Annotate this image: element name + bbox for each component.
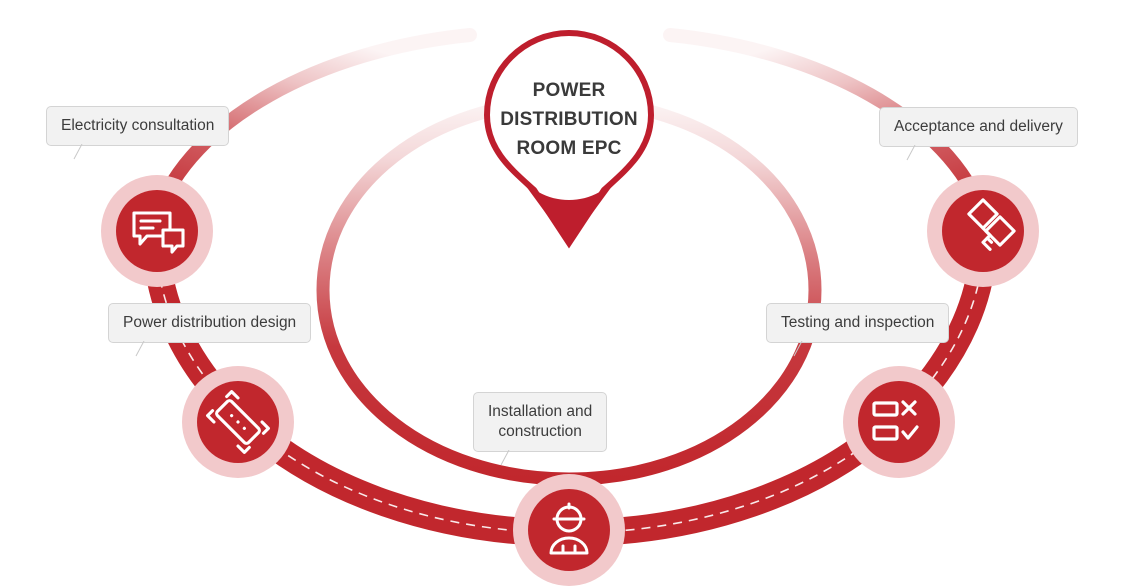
node-acceptance-and-delivery[interactable]	[927, 175, 1039, 287]
node-testing-and-inspection[interactable]	[843, 366, 955, 478]
pin-title-line-1: POWER	[533, 80, 606, 101]
step-label-acceptance-and-delivery[interactable]: Acceptance and delivery	[879, 107, 1078, 147]
node-installation-and-construction[interactable]	[513, 474, 625, 586]
step-label-text-line-2: construction	[488, 422, 592, 442]
diagram-canvas: POWER DISTRIBUTION ROOM EPC	[0, 0, 1139, 587]
step-label-power-distribution-design[interactable]: Power distribution design	[108, 303, 311, 343]
step-label-text-line-1: Installation and	[488, 402, 592, 422]
process-cycle-diagram: POWER DISTRIBUTION ROOM EPC Electricity …	[0, 0, 1139, 587]
node-disc	[942, 190, 1024, 272]
pin-title-line-3: ROOM EPC	[516, 138, 621, 159]
step-label-text: Power distribution design	[123, 314, 296, 331]
step-label-testing-and-inspection[interactable]: Testing and inspection	[766, 303, 949, 343]
step-label-installation-and-construction[interactable]: Installation and construction	[473, 392, 607, 452]
step-label-text: Testing and inspection	[781, 314, 934, 331]
step-label-text: Electricity consultation	[61, 117, 214, 134]
pin-title-line-2: DISTRIBUTION	[500, 109, 638, 130]
node-disc	[858, 381, 940, 463]
node-disc	[116, 190, 198, 272]
step-label-text: Acceptance and delivery	[894, 118, 1063, 135]
step-label-electricity-consultation[interactable]: Electricity consultation	[46, 106, 229, 146]
node-electricity-consultation[interactable]	[101, 175, 213, 287]
center-pin: POWER DISTRIBUTION ROOM EPC	[487, 33, 651, 245]
node-power-distribution-design[interactable]	[182, 366, 294, 478]
